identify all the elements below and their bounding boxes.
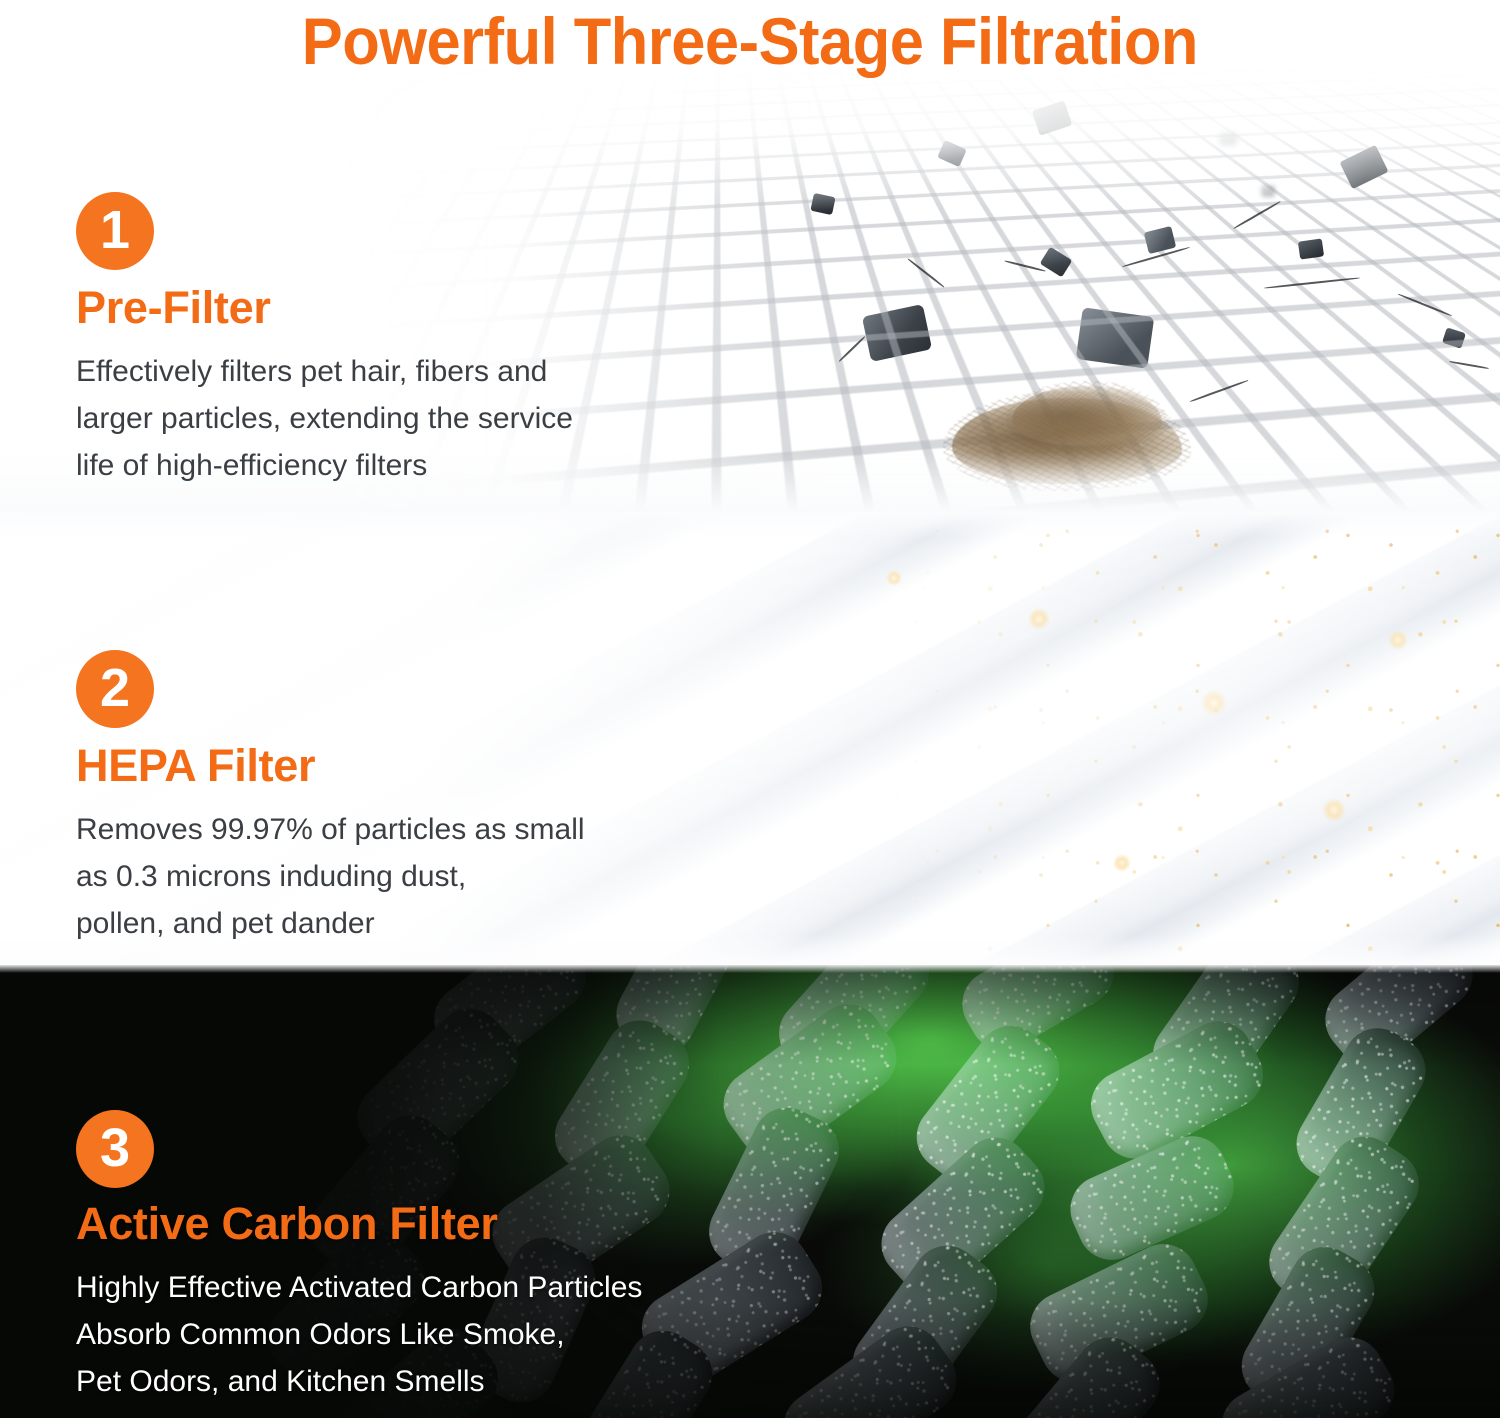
pet-hair-clump — [1012, 386, 1162, 446]
section-content-hepa-filter: 2 HEPA Filter Removes 99.97% of particle… — [76, 650, 585, 947]
section-content-pre-filter: 1 Pre-Filter Effectively filters pet hai… — [76, 192, 573, 489]
step-badge-2: 2 — [76, 650, 154, 728]
section-content-active-carbon-filter: 3 Active Carbon Filter Highly Effective … — [76, 1110, 642, 1405]
debris-particle — [1076, 307, 1155, 369]
step-number-1: 1 — [100, 203, 130, 257]
debris-particle — [1298, 238, 1324, 259]
step-badge-1: 1 — [76, 192, 154, 270]
panel2-top-fade — [0, 512, 1500, 538]
step-number-2: 2 — [100, 661, 130, 715]
section-title-hepa-filter: HEPA Filter — [76, 740, 585, 792]
section-body-active-carbon-filter: Highly Effective Activated Carbon Partic… — [76, 1264, 642, 1405]
section-title-active-carbon-filter: Active Carbon Filter — [76, 1198, 642, 1250]
section-body-hepa-filter: Removes 99.97% of particles as small as … — [76, 806, 585, 947]
product-infographic: Powerful Three-Stage Filtration — [0, 0, 1500, 1418]
step-badge-3: 3 — [76, 1110, 154, 1188]
section-body-pre-filter: Effectively filters pet hair, fibers and… — [76, 348, 573, 489]
step-number-3: 3 — [100, 1121, 130, 1175]
section-title-pre-filter: Pre-Filter — [76, 282, 573, 334]
panel3-top-fade — [0, 965, 1500, 973]
